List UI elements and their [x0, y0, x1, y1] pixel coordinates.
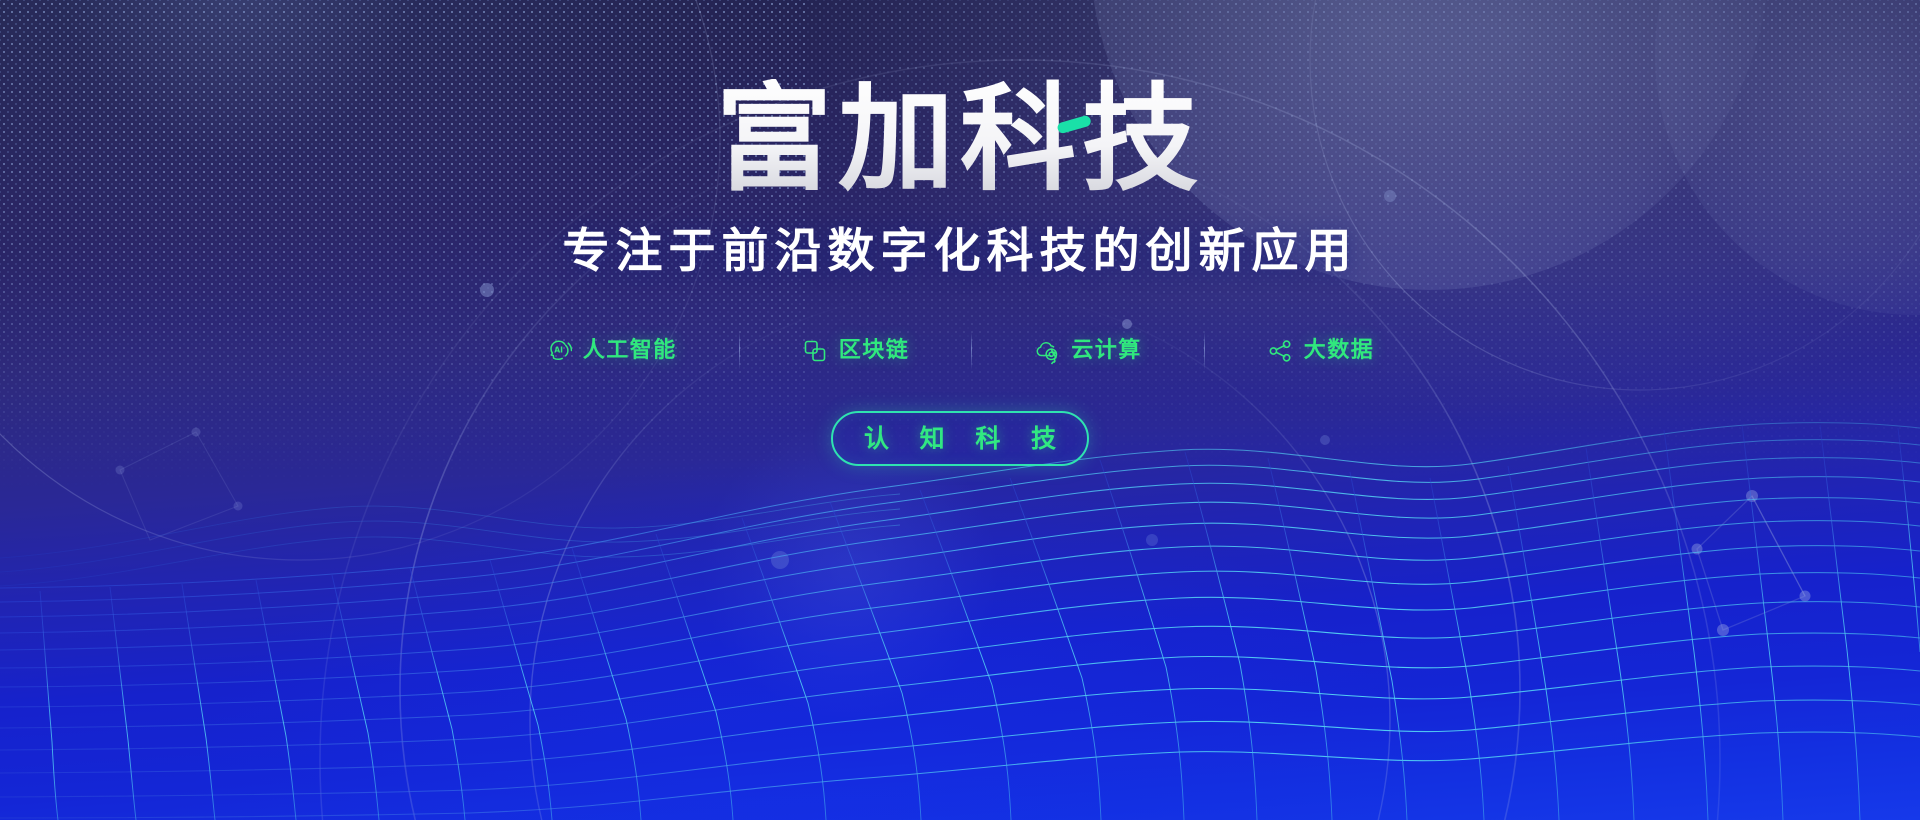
cloud-gear-icon	[1034, 338, 1060, 364]
feature-tag-list: AI 人工智能 区块链	[484, 329, 1437, 373]
feature-tag-label: 云计算	[1071, 340, 1142, 362]
share-nodes-icon	[1267, 338, 1293, 364]
feature-tag-ai[interactable]: AI 人工智能	[484, 329, 739, 373]
brand-logo-text: 富加科技	[716, 79, 1204, 207]
brand-logo-svg: 富加科技	[680, 79, 1240, 207]
cognitive-tech-badge[interactable]: 认 知 科 技	[831, 411, 1089, 466]
feature-tag-blockchain[interactable]: 区块链	[740, 329, 972, 373]
hero-content: 富加科技 专注于前沿数字化科技的创新应用 AI 人工智能	[0, 0, 1920, 820]
blockchain-icon	[802, 338, 828, 364]
badge-label: 认 知 科 技	[853, 426, 1067, 451]
feature-tag-bigdata[interactable]: 大数据	[1205, 329, 1437, 373]
hero-banner: 富加科技 专注于前沿数字化科技的创新应用 AI 人工智能	[0, 0, 1920, 820]
ai-head-icon: AI	[546, 338, 572, 364]
feature-tag-label: 区块链	[839, 340, 910, 362]
feature-tag-label: 大数据	[1304, 340, 1375, 362]
feature-tag-label: 人工智能	[583, 340, 677, 362]
feature-tag-cloud[interactable]: 云计算	[972, 329, 1204, 373]
svg-text:AI: AI	[554, 345, 563, 354]
hero-subtitle: 专注于前沿数字化科技的创新应用	[563, 228, 1358, 275]
brand-logo: 富加科技	[680, 78, 1240, 208]
